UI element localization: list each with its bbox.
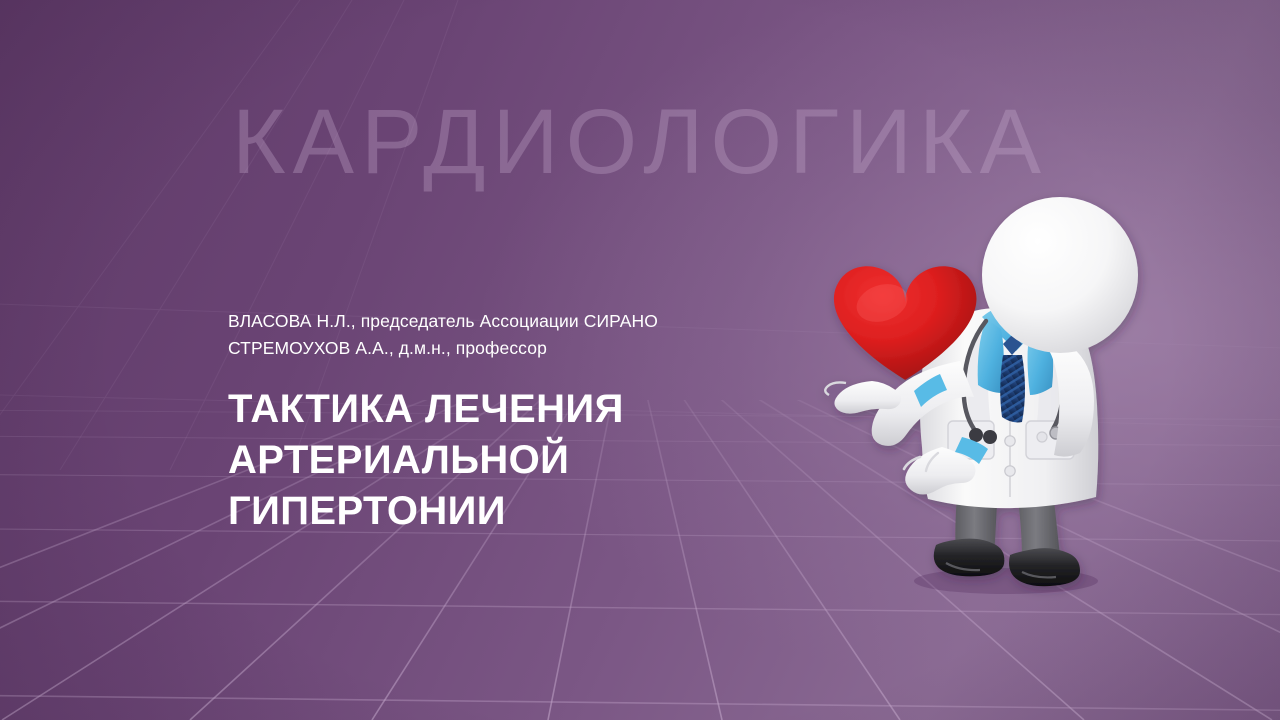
slide-text-block: ВЛАСОВА Н.Л., председатель Ассоциации СИ… xyxy=(228,308,868,537)
presenter-list: ВЛАСОВА Н.Л., председатель Ассоциации СИ… xyxy=(228,308,868,362)
brand-watermark: КАРДИОЛОГИКА xyxy=(0,96,1280,188)
title-slide: КАРДИОЛОГИКА xyxy=(0,0,1280,720)
doctor-body xyxy=(825,197,1138,586)
presenter-line-1: ВЛАСОВА Н.Л., председатель Ассоциации СИ… xyxy=(228,308,868,335)
page-title: ТАКТИКА ЛЕЧЕНИЯ АРТЕРИАЛЬНОЙ ГИПЕРТОНИИ xyxy=(228,384,868,537)
title-line-2: АРТЕРИАЛЬНОЙ xyxy=(228,435,868,486)
title-line-3: ГИПЕРТОНИИ xyxy=(228,486,868,537)
title-line-1: ТАКТИКА ЛЕЧЕНИЯ xyxy=(228,384,868,435)
presenter-line-2: СТРЕМОУХОВ А.А., д.м.н., профессор xyxy=(228,335,868,362)
